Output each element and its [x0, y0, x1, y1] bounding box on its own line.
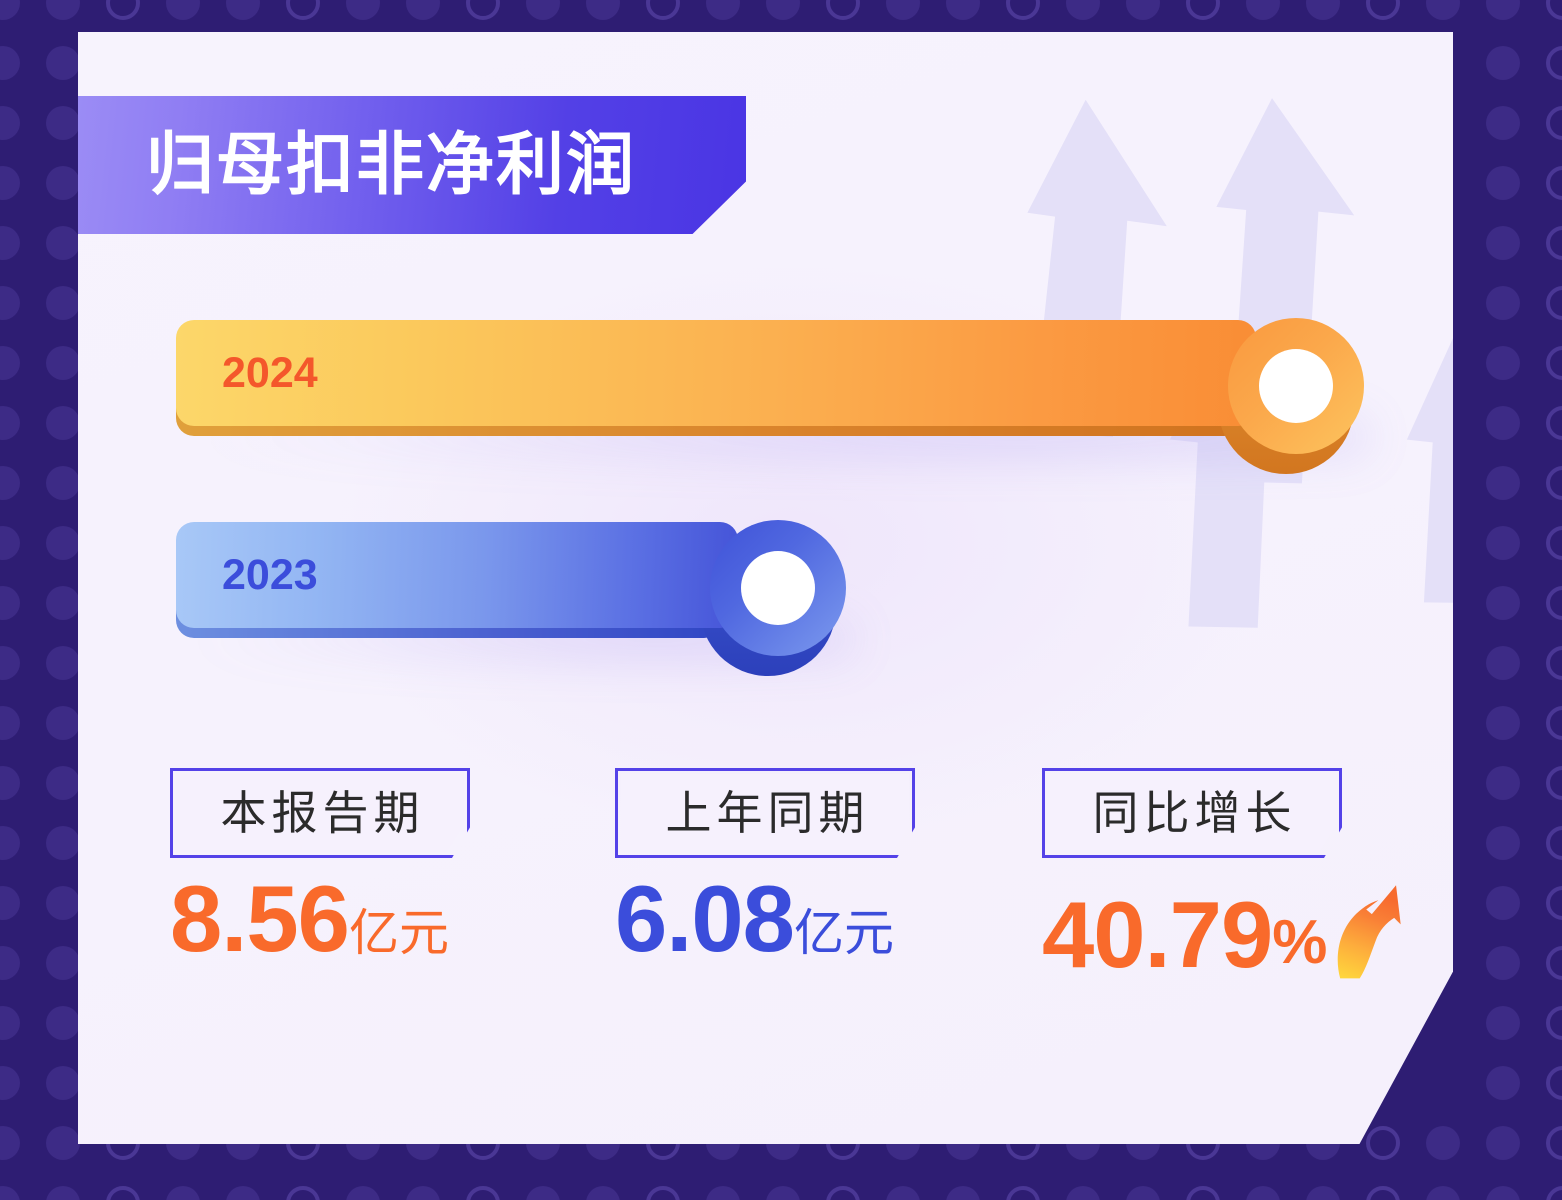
dot-solid — [0, 1066, 20, 1100]
dot-ring — [286, 1186, 320, 1200]
stat-current-period: 本报告期 8.56 亿元 — [170, 768, 500, 962]
bar-2023: 2023 — [176, 514, 856, 674]
stat-current-period-number: 8.56 — [170, 876, 349, 962]
dot-ring — [1546, 226, 1562, 260]
dot-ring — [1366, 1186, 1400, 1200]
stat-yoy-growth: 同比增长 40.79 % — [1042, 768, 1402, 978]
dot-ring — [1006, 0, 1040, 20]
dot-ring — [1186, 1186, 1220, 1200]
title-banner: 归母扣非净利润 — [78, 96, 746, 234]
dot-solid — [0, 286, 20, 320]
bar-2023-label: 2023 — [222, 554, 318, 597]
bar-2024-body: 2024 — [176, 320, 1256, 426]
dot-solid — [0, 586, 20, 620]
dot-solid — [1066, 0, 1100, 20]
dot-solid — [0, 766, 20, 800]
dot-solid — [1486, 1006, 1520, 1040]
bar-2024-label: 2024 — [222, 352, 318, 395]
dot-solid — [1486, 946, 1520, 980]
dot-solid — [1486, 526, 1520, 560]
dot-solid — [0, 646, 20, 680]
dot-solid — [1426, 0, 1460, 20]
dot-solid — [1246, 0, 1280, 20]
dot-solid — [1486, 0, 1520, 20]
dot-solid — [1126, 0, 1160, 20]
dot-ring — [466, 0, 500, 20]
dot-solid — [226, 0, 260, 20]
dot-ring — [1546, 886, 1562, 920]
dot-ring — [1006, 1186, 1040, 1200]
dot-solid — [526, 0, 560, 20]
dot-ring — [1546, 526, 1562, 560]
dot-ring — [1546, 466, 1562, 500]
stat-prior-period-chip: 上年同期 — [615, 768, 915, 858]
dot-solid — [0, 706, 20, 740]
dot-solid — [1486, 406, 1520, 440]
dot-solid — [0, 166, 20, 200]
dot-solid — [946, 1186, 980, 1200]
dot-solid — [1486, 826, 1520, 860]
dot-solid — [706, 1186, 740, 1200]
dot-solid — [346, 1186, 380, 1200]
dot-solid — [0, 1006, 20, 1040]
bar-2024-cap — [1228, 318, 1364, 454]
dot-solid — [46, 46, 80, 80]
stat-current-period-unit: 亿元 — [349, 908, 449, 962]
dot-solid — [46, 706, 80, 740]
dot-ring — [1546, 1186, 1562, 1200]
dot-solid — [0, 226, 20, 260]
dot-ring — [826, 0, 860, 20]
dot-solid — [1486, 106, 1520, 140]
dot-ring — [1546, 46, 1562, 80]
dot-solid — [1486, 166, 1520, 200]
dot-solid — [1486, 286, 1520, 320]
dot-solid — [886, 0, 920, 20]
dot-solid — [166, 1186, 200, 1200]
stat-yoy-growth-label: 同比增长 — [1088, 790, 1297, 836]
dot-ring — [1546, 346, 1562, 380]
dot-ring — [1366, 0, 1400, 20]
dot-ring — [1546, 406, 1562, 440]
bar-2023-cap — [710, 520, 846, 656]
dot-solid — [1486, 466, 1520, 500]
dot-solid — [46, 346, 80, 380]
dot-solid — [766, 0, 800, 20]
dot-ring — [286, 0, 320, 20]
dot-solid — [0, 826, 20, 860]
dot-ring — [1546, 586, 1562, 620]
dot-solid — [46, 766, 80, 800]
dot-solid — [1486, 46, 1520, 80]
dot-solid — [0, 466, 20, 500]
dot-solid — [766, 1186, 800, 1200]
dot-solid — [1486, 706, 1520, 740]
bar-2023-cap-hole — [741, 551, 815, 625]
dot-ring — [106, 1186, 140, 1200]
dot-solid — [406, 0, 440, 20]
dot-solid — [1426, 1186, 1460, 1200]
dot-solid — [0, 0, 20, 20]
dot-solid — [0, 1186, 20, 1200]
dot-solid — [1126, 1186, 1160, 1200]
dot-ring — [1546, 646, 1562, 680]
dot-ring — [1546, 166, 1562, 200]
dot-ring — [1186, 0, 1220, 20]
dot-solid — [0, 886, 20, 920]
stat-prior-period: 上年同期 6.08 亿元 — [615, 768, 945, 962]
dot-solid — [46, 406, 80, 440]
stat-yoy-growth-chip: 同比增长 — [1042, 768, 1342, 858]
dot-solid — [1486, 226, 1520, 260]
stat-current-period-label: 本报告期 — [216, 790, 425, 836]
dot-solid — [1486, 346, 1520, 380]
dot-ring — [1546, 946, 1562, 980]
infographic-canvas: 归母扣非净利润 2024 2023 — [0, 0, 1562, 1200]
dot-solid — [0, 406, 20, 440]
dot-ring — [1546, 766, 1562, 800]
dot-solid — [1306, 1186, 1340, 1200]
stat-prior-period-number: 6.08 — [615, 876, 794, 962]
dot-solid — [46, 646, 80, 680]
dot-solid — [1426, 1126, 1460, 1160]
bar-2024-cap-hole — [1259, 349, 1333, 423]
dot-ring — [1546, 106, 1562, 140]
dot-solid — [0, 1126, 20, 1160]
dot-solid — [46, 1186, 80, 1200]
stat-yoy-growth-suffix: % — [1272, 912, 1327, 978]
dot-ring — [466, 1186, 500, 1200]
dot-solid — [46, 586, 80, 620]
dot-solid — [46, 1006, 80, 1040]
dot-ring — [1546, 1006, 1562, 1040]
stat-yoy-growth-value: 40.79 % — [1042, 876, 1402, 978]
page-title: 归母扣非净利润 — [146, 131, 636, 199]
dot-solid — [1246, 1186, 1280, 1200]
stat-yoy-growth-number: 40.79 — [1042, 892, 1272, 978]
bar-2024: 2024 — [176, 312, 1376, 472]
dot-solid — [0, 106, 20, 140]
dot-solid — [46, 946, 80, 980]
dot-solid — [0, 526, 20, 560]
dot-solid — [0, 946, 20, 980]
dot-solid — [1486, 1126, 1520, 1160]
dot-solid — [46, 886, 80, 920]
dot-solid — [46, 526, 80, 560]
dot-solid — [0, 346, 20, 380]
up-arrow-icon — [1329, 876, 1402, 984]
dot-ring — [1546, 0, 1562, 20]
dot-solid — [226, 1186, 260, 1200]
dot-ring — [1546, 1066, 1562, 1100]
dot-ring — [1546, 826, 1562, 860]
dot-solid — [886, 1186, 920, 1200]
dot-solid — [166, 0, 200, 20]
dot-solid — [406, 1186, 440, 1200]
dot-solid — [46, 226, 80, 260]
dot-solid — [526, 1186, 560, 1200]
dot-solid — [946, 0, 980, 20]
stat-prior-period-unit: 亿元 — [794, 908, 894, 962]
dot-solid — [46, 0, 80, 20]
dot-solid — [46, 466, 80, 500]
stat-prior-period-label: 上年同期 — [661, 790, 870, 836]
dot-solid — [46, 1126, 80, 1160]
dot-solid — [1306, 0, 1340, 20]
dot-solid — [1486, 646, 1520, 680]
stat-current-period-chip: 本报告期 — [170, 768, 470, 858]
dot-solid — [586, 1186, 620, 1200]
dot-ring — [646, 1186, 680, 1200]
dot-solid — [1486, 586, 1520, 620]
dot-solid — [46, 166, 80, 200]
dot-ring — [1546, 706, 1562, 740]
stat-current-period-value: 8.56 亿元 — [170, 876, 500, 962]
dot-solid — [586, 0, 620, 20]
dot-solid — [46, 106, 80, 140]
dot-ring — [1366, 1126, 1400, 1160]
dot-solid — [46, 286, 80, 320]
dot-solid — [706, 0, 740, 20]
stat-prior-period-value: 6.08 亿元 — [615, 876, 945, 962]
dot-solid — [1486, 1066, 1520, 1100]
dot-ring — [646, 0, 680, 20]
dot-solid — [1486, 886, 1520, 920]
dot-solid — [1486, 1186, 1520, 1200]
dot-ring — [1546, 1126, 1562, 1160]
dot-solid — [1486, 766, 1520, 800]
dot-solid — [46, 1066, 80, 1100]
dot-solid — [1066, 1186, 1100, 1200]
dot-solid — [346, 0, 380, 20]
dot-ring — [106, 0, 140, 20]
dot-solid — [0, 46, 20, 80]
stats-row: 本报告期 8.56 亿元 上年同期 6.08 亿元 同比增长 — [170, 768, 1400, 1028]
dot-ring — [826, 1186, 860, 1200]
dot-solid — [46, 826, 80, 860]
bar-2023-body: 2023 — [176, 522, 738, 628]
dot-ring — [1546, 286, 1562, 320]
